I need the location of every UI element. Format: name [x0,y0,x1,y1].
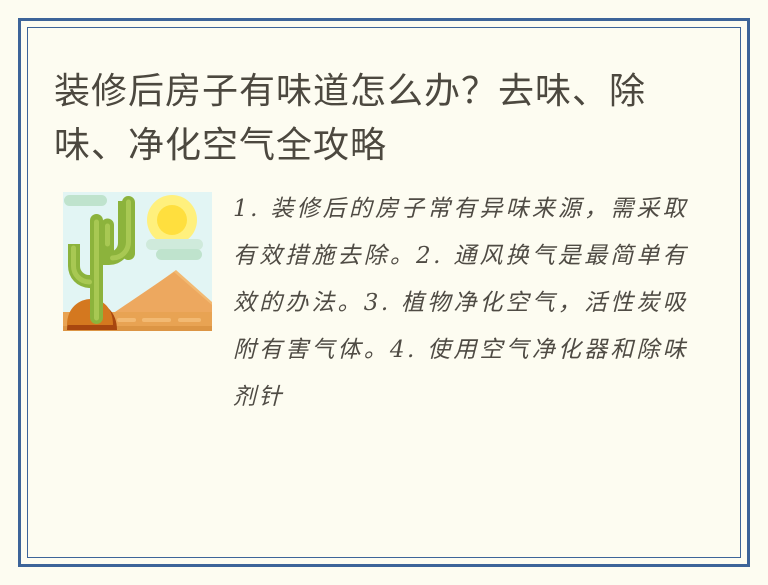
ground-dash-1 [117,318,136,322]
article-paragraph: 1. 装修后的房子常有异味来源，需采取有效措施去除。2. 通风换气是最简单有效的… [233,186,688,436]
article-card: 装修后房子有味道怎么办？去味、除味、净化空气全攻略 [18,18,750,567]
sun-core [157,205,187,235]
page-content: 装修后房子有味道怎么办？去味、除味、净化空气全攻略 [28,28,740,557]
ground-dash-3 [178,318,201,322]
cloud-top-left [64,195,107,206]
cloud-lower-right [156,249,202,260]
ground-dash-2 [142,318,171,322]
desert-cactus-svg [60,192,215,337]
article-body: 1. 装修后的房子常有异味来源，需采取有效措施去除。2. 通风换气是最简单有效的… [28,192,740,452]
desert-cactus-illustration [60,192,215,337]
page-title: 装修后房子有味道怎么办？去味、除味、净化空气全攻略 [54,64,654,172]
cloud-mid-right [146,239,203,250]
